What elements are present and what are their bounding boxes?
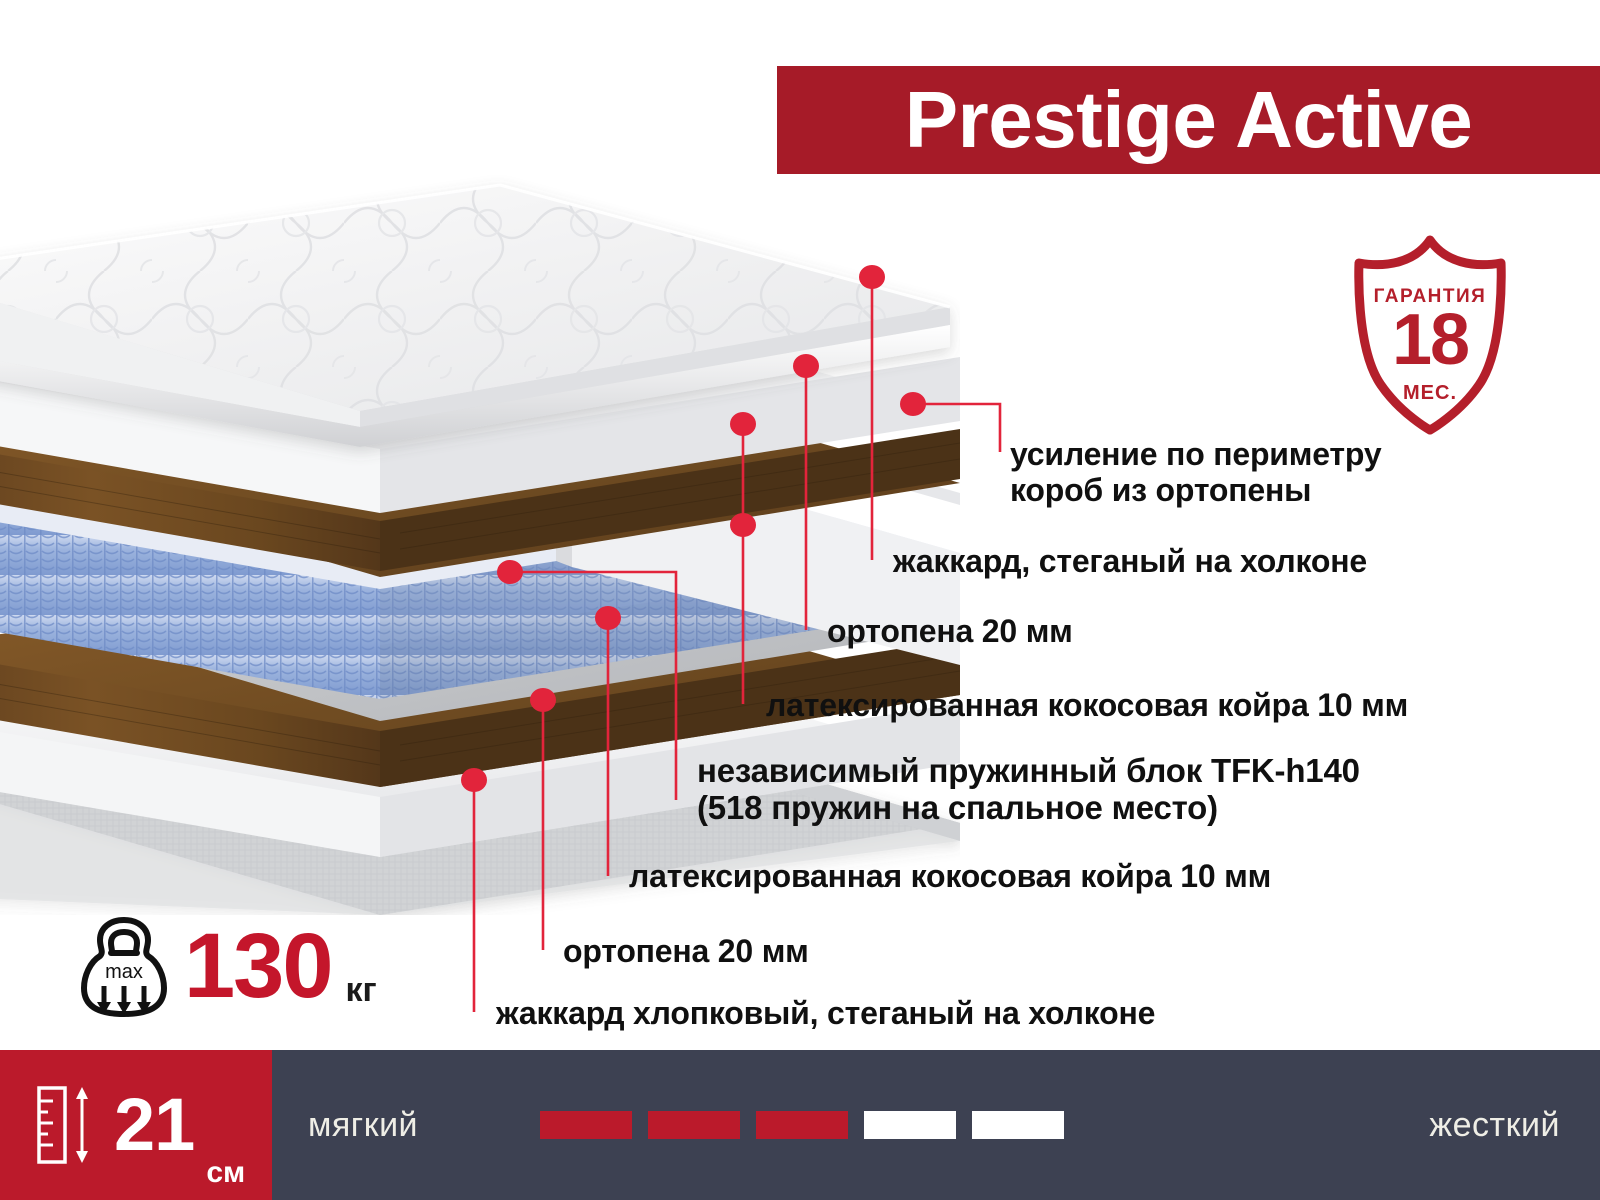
height-value: 21 xyxy=(114,1088,194,1162)
firmness-segments xyxy=(540,1111,1064,1139)
warranty-unit-label: МЕС. xyxy=(1335,382,1525,405)
bottom-spec-bar: 21 см мягкий жесткий xyxy=(0,1050,1600,1200)
firmness-hard-label: жесткий xyxy=(1429,1106,1560,1145)
max-load-unit: кг xyxy=(346,971,377,1020)
callout-perimeter: усиление по периметру короб из ортопены xyxy=(1010,436,1381,508)
callout-coir-top: латексированная кокосовая койра 10 мм xyxy=(766,687,1408,723)
callout-jacquard-top: жаккард, стеганый на холконе xyxy=(893,543,1367,579)
kettlebell-icon: max xyxy=(78,914,170,1018)
callout-spring-block: независимый пружинный блок TFK-h140 (518… xyxy=(697,752,1360,827)
callout-ortofoam-top: ортопена 20 мм xyxy=(827,613,1073,649)
firmness-segment-5 xyxy=(972,1111,1064,1139)
firmness-segment-3 xyxy=(756,1111,848,1139)
infographic-canvas: Prestige Active ГАРАНТИЯ 18 МЕС. усилени… xyxy=(0,0,1600,1200)
warranty-shield-badge: ГАРАНТИЯ 18 МЕС. xyxy=(1335,230,1525,440)
max-load-value: 130 xyxy=(184,920,332,1012)
page-title: Prestige Active xyxy=(905,80,1473,160)
firmness-soft-label: мягкий xyxy=(308,1106,418,1145)
firmness-segment-4 xyxy=(864,1111,956,1139)
height-unit: см xyxy=(206,1156,245,1200)
callout-ortofoam-bottom: ортопена 20 мм xyxy=(563,933,809,969)
callout-coir-bottom: латексированная кокосовая койра 10 мм xyxy=(629,858,1271,894)
firmness-scale-block: мягкий жесткий xyxy=(272,1050,1600,1200)
firmness-segment-2 xyxy=(648,1111,740,1139)
firmness-segment-1 xyxy=(540,1111,632,1139)
ruler-icon xyxy=(36,1085,98,1165)
callout-jacquard-bottom: жаккард хлопковый, стеганый на холконе xyxy=(496,995,1155,1031)
max-load-block: max 130 кг xyxy=(78,912,377,1020)
warranty-months-value: 18 xyxy=(1335,304,1525,376)
product-title-banner: Prestige Active xyxy=(777,66,1600,174)
svg-text:max: max xyxy=(105,961,143,983)
height-spec-block: 21 см xyxy=(0,1050,272,1200)
